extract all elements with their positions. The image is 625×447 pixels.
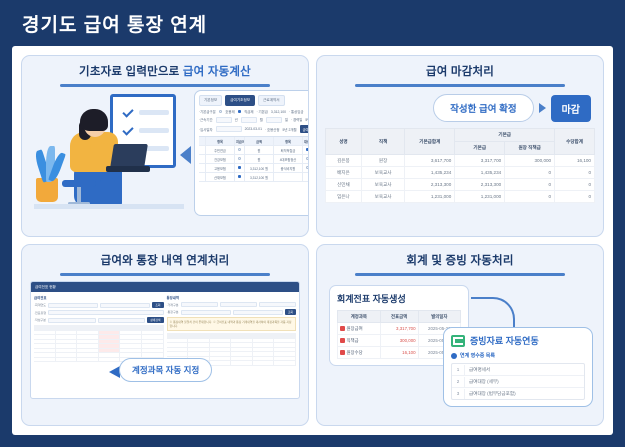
content-sheet: 기초자료 입력만으로 급여 자동계산 <box>12 46 613 435</box>
grid-cell-name: 건강보험 <box>206 155 235 164</box>
panel3-header: 급여와 통장 내역 연계처리 <box>30 252 300 276</box>
panel4-header: 회계 및 증빙 자동처리 <box>325 252 595 276</box>
label-account-type: ·통장구분 <box>167 310 179 314</box>
grid-cell-name: 산재보험 <box>206 173 235 182</box>
form-row-tenure: ·근속기간 년 월 일 · 경력일 5년 <box>199 117 309 123</box>
grid-cell-name2 <box>274 173 303 182</box>
input-account-subject[interactable] <box>233 310 283 315</box>
cell-name: 배지은 <box>326 167 362 179</box>
bank-linkage-screenshot: 급여전표 현황 급여전표 ·회계연도 조회 ·전표유형 ·작성구 <box>30 281 300 399</box>
cell-account-label: 원장수당 <box>347 350 363 355</box>
left-section-title: 급여전표 <box>34 295 164 300</box>
radio-seniority[interactable] <box>219 110 223 114</box>
cell-allowance: 0 <box>555 191 595 203</box>
grid-cell-name2: 4대보험정산 <box>274 155 303 164</box>
banner-title: 경기도 급여 통장 연계 <box>22 10 207 37</box>
value-career: 5년 <box>305 117 309 122</box>
input-tx-type[interactable] <box>181 302 218 307</box>
checkmark-icon <box>122 124 133 135</box>
input-date-to[interactable] <box>259 302 296 307</box>
stool-seat <box>62 180 96 187</box>
clipboard-line <box>139 110 169 115</box>
cell-role: 보육교사 <box>361 167 405 179</box>
input-tenure-month[interactable] <box>241 117 257 123</box>
grid-cell-name: 고용보험 <box>206 164 235 173</box>
cell-base-total: 1,435,234 <box>405 167 455 179</box>
list-item[interactable]: 2 급여대장 (세부) <box>452 376 584 388</box>
label-month: 월 <box>260 117 263 122</box>
grid-cell-check2[interactable] <box>303 155 309 164</box>
cell-base: 3,317,700 <box>455 155 505 167</box>
laptop-screen-icon <box>110 144 148 168</box>
tab-payroll-basis[interactable]: 급여기초정보 <box>225 95 255 106</box>
label-base-pay: · 기본급 <box>256 109 267 114</box>
screenshot-titlebar: 급여전표 현황 <box>31 282 299 292</box>
panel-payroll-closing: 급여 마감처리 작성한 급여 확정 마감 성명 직책 기본급합계 기본급 수당합… <box>316 55 604 237</box>
bullet-icon <box>451 353 457 359</box>
cell-director: 0 <box>505 167 555 179</box>
label-ordinary-wage: · 통상임금 <box>289 109 304 114</box>
voucher-header-row: 계정과목 전표금액 발의일자 <box>338 311 461 323</box>
label-hire-date: ·입사일자 <box>199 127 213 132</box>
grid-cell-amount: 원 <box>245 146 274 155</box>
evidence-subtitle: 연계 영수증 목록 <box>460 352 495 359</box>
closing-flow: 작성한 급여 확정 마감 <box>325 94 591 122</box>
grid-cell-check2[interactable] <box>303 164 309 173</box>
cell-allowance: 0 <box>555 167 595 179</box>
panel1-title-highlight: 급여 자동계산 <box>183 66 251 78</box>
cell-role: 보육교사 <box>361 179 405 191</box>
screenshot-left-column: 급여전표 ·회계연도 조회 ·전표유형 ·작성구분 <box>34 295 164 366</box>
payroll-basis-form-card: 기본정보 급여기초정보 근로계약서 ·기본급구분 호봉제 직급제 · 기본급 3… <box>194 90 309 216</box>
th-account: 계정과목 <box>338 311 381 323</box>
cell-base-total: 3,617,700 <box>405 155 455 167</box>
label-tx-type: ·거래구분 <box>167 303 179 307</box>
payroll-summary-table: 성명 직책 기본급합계 기본급 수당합계 기본급 원장 직책급 김은봉 원장 3… <box>325 128 595 203</box>
panel1-title-plain: 기초자료 입력만으로 <box>79 66 183 78</box>
panel4-body: 회계전표 자동생성 계정과목 전표금액 발의일자 원장급여 3,317,700 <box>325 281 595 409</box>
item-number: 3 <box>452 389 465 399</box>
checkmark-icon <box>122 106 133 117</box>
voucher-marker-icon <box>340 350 345 355</box>
cell-account-label: 직책급 <box>347 338 359 343</box>
grid-cell-name2: 퇴직적립금 <box>274 146 303 155</box>
payroll-table-body: 김은봉 원장 3,617,700 3,317,700 300,000 16,10… <box>326 155 595 203</box>
flow-arrow-icon <box>539 103 546 113</box>
filter-row-fiscal-year: ·회계연도 조회 <box>34 302 164 308</box>
table-row[interactable]: 배지은 보육교사 1,435,234 1,435,234 0 0 <box>326 167 595 179</box>
auto-account-assignment-callout: 계정과목 자동 지정 <box>119 358 212 382</box>
input-attribution-year[interactable] <box>100 303 150 308</box>
grid-cell-name2: 중식비지원 <box>274 164 303 173</box>
label-grade-calc: · 호봉산정 <box>265 127 280 132</box>
laptop-base-icon <box>106 166 150 172</box>
cell-base-total: 2,313,300 <box>405 179 455 191</box>
cell-role: 원장 <box>361 155 405 167</box>
close-payroll-button[interactable]: 마감 <box>551 95 591 122</box>
form-calc-button[interactable]: 급여기초정보 <box>300 125 309 133</box>
grid-cell-check[interactable] <box>235 155 245 164</box>
label-tenure: ·근속기간 <box>199 117 213 122</box>
grid-cell-check[interactable] <box>235 173 245 182</box>
panel4-title: 회계 및 증빙 자동처리 <box>325 252 595 268</box>
th-allowance-total: 수당합계 <box>555 129 595 155</box>
value-base-pay: 3,312,100 <box>271 110 286 114</box>
search-button-left[interactable]: 조회 <box>152 302 163 308</box>
input-tenure-year[interactable] <box>216 117 232 123</box>
mismatch-notice: ※ 통장내역 불일치 건이 존재합니다. ※ 급여전표 내역과 통장 거래내역을… <box>167 317 297 331</box>
th-name: 성명 <box>326 129 362 155</box>
list-item[interactable]: 1 급여명세서 <box>452 364 584 376</box>
evidence-card-header: 증빙자료 자동연동 <box>451 334 585 347</box>
evidence-subtitle-row: 연계 영수증 목록 <box>451 352 585 359</box>
label-grade: 직급제 <box>244 109 253 114</box>
cell-base-total: 1,231,000 <box>405 191 455 203</box>
desk-surface <box>34 204 184 209</box>
payroll-table-head: 성명 직책 기본급합계 기본급 수당합계 기본급 원장 직책급 <box>326 129 595 155</box>
flow-arrow-icon <box>180 146 191 164</box>
cell-amount: 3,317,700 <box>380 323 418 335</box>
cell-name: 임은나 <box>326 191 362 203</box>
value-grade-calc: 5년 2개월 <box>283 127 297 132</box>
panel2-header: 급여 마감처리 <box>325 63 595 87</box>
item-name: 급여대장 (세부) <box>465 376 503 387</box>
grid-header-amount: 금액 <box>245 137 274 146</box>
item-name: 급여명세서 <box>465 364 494 375</box>
grid-cell-check2 <box>303 173 309 182</box>
item-name: 급여대장 (법부담금포함) <box>465 388 520 399</box>
panel1-title: 기초자료 입력만으로 급여 자동계산 <box>30 63 300 79</box>
label-year: 년 <box>235 117 238 122</box>
grid-header-target: 대상여부 <box>303 137 309 146</box>
table-row[interactable]: 신민채 보육교사 2,313,300 2,313,300 0 0 <box>326 179 595 191</box>
cell-name: 신민채 <box>326 179 362 191</box>
cell-allowance: 16,100 <box>555 155 595 167</box>
th-date: 발의일자 <box>418 311 460 323</box>
input-write-type[interactable] <box>48 318 96 323</box>
th-director-pay: 원장 직책급 <box>505 142 555 155</box>
input-account-name[interactable] <box>98 318 146 323</box>
right-section-title: 통장내역 <box>167 295 297 300</box>
grid-cell-name: 주민연금 <box>206 146 235 155</box>
form-tabs: 기본정보 급여기초정보 근로계약서 <box>199 95 309 106</box>
cell-amount: 16,100 <box>380 347 418 359</box>
cell-director: 300,000 <box>505 155 555 167</box>
payroll-group-row: 성명 직책 기본급합계 기본급 수당합계 <box>326 129 595 142</box>
filter-row-account-type: ·통장구분 조회 <box>167 309 297 315</box>
grid-header-paid: 지급여부 <box>235 137 245 146</box>
person-at-laptop-illustration <box>34 92 184 214</box>
item-number: 2 <box>452 377 465 387</box>
panel3-underline <box>60 273 271 276</box>
th-base: 기본급 <box>455 142 505 155</box>
cell-base: 1,435,234 <box>455 167 505 179</box>
filter-row-write-type: ·작성구분 상세검색 <box>34 317 164 323</box>
person-hair <box>80 109 108 131</box>
cell-director: 0 <box>505 179 555 191</box>
panel1-underline <box>60 84 271 87</box>
confirm-payroll-pill[interactable]: 작성한 급여 확정 <box>433 94 533 122</box>
grid-rowlabel <box>199 155 206 164</box>
cell-account: 원장수당 <box>338 347 381 359</box>
grid-cell-check[interactable] <box>235 164 245 173</box>
panel-bank-linkage: 급여와 통장 내역 연계처리 급여전표 현황 급여전표 ·회계연도 조회 ·전표… <box>21 244 309 426</box>
tab-labor-contract[interactable]: 근로계약서 <box>258 95 285 106</box>
panel2-title: 급여 마감처리 <box>325 63 595 79</box>
panel2-underline <box>355 84 566 87</box>
detail-search-button[interactable]: 상세검색 <box>147 317 163 323</box>
cell-base: 1,231,000 <box>455 191 505 203</box>
tab-basic-info[interactable]: 기본정보 <box>199 95 222 106</box>
voucher-marker-icon <box>340 326 345 331</box>
table-row[interactable]: 임은나 보육교사 1,231,000 1,231,000 0 0 <box>326 191 595 203</box>
label-write-type: ·작성구분 <box>34 318 46 322</box>
label-base-type: ·기본급구분 <box>199 109 216 114</box>
th-role: 직책 <box>361 129 405 155</box>
grid-cell-amount: 3,312,100 원 <box>245 173 274 182</box>
screenshot-right-column: 통장내역 ·거래구분 ·통장구분 조회 ※ 통장내역 불일치 건이 존재합니다.… <box>167 295 297 366</box>
grid-cell-check2[interactable] <box>303 146 309 155</box>
input-voucher-type[interactable] <box>48 310 163 315</box>
insurance-grid: 항목 지급여부 금액 항목 대상여부 주민연금 원 퇴직적립금 건강보험 원 4… <box>199 136 309 182</box>
grid-header-item: 항목 <box>206 137 235 146</box>
th-base-total: 기본급합계 <box>405 129 455 155</box>
input-tenure-day[interactable] <box>266 117 282 123</box>
voucher-table-head: 계정과목 전표금액 발의일자 <box>338 311 461 323</box>
list-item[interactable]: 3 급여대장 (법부담금포함) <box>452 388 584 399</box>
grid-cell-check[interactable] <box>235 146 245 155</box>
th-group-base: 기본급 <box>455 129 555 142</box>
label-career-date: · 경력일 <box>291 117 302 122</box>
form-row-hire-date: ·입사일자 2023-03-01 · 호봉산정 5년 2개월 급여기초정보 <box>199 125 309 133</box>
panel-accounting-automation: 회계 및 증빙 자동처리 회계전표 자동생성 계정과목 전표금액 발의일자 <box>316 244 604 426</box>
cell-name: 김은봉 <box>326 155 362 167</box>
input-fiscal-year[interactable] <box>48 303 98 308</box>
label-seniority: 호봉제 <box>225 109 234 114</box>
panel4-underline <box>355 273 566 276</box>
input-account-type[interactable] <box>181 310 231 315</box>
filter-row-voucher-type: ·전표유형 <box>34 310 164 315</box>
table-row[interactable]: 원장급여 3,317,700 2025-05-22 <box>338 323 461 335</box>
left-result-grid[interactable] <box>34 325 164 362</box>
input-hire-date[interactable] <box>216 126 242 132</box>
item-number: 1 <box>452 365 465 375</box>
th-amount: 전표금액 <box>380 311 418 323</box>
cell-account: 직책급 <box>338 335 381 347</box>
clipboard-line <box>139 128 169 133</box>
input-date-from[interactable] <box>220 302 257 307</box>
voucher-card-title: 회계전표 자동생성 <box>337 292 461 305</box>
grid-corner <box>199 137 206 146</box>
panel-payroll-calculation: 기초자료 입력만으로 급여 자동계산 <box>21 55 309 237</box>
cell-director: 0 <box>505 191 555 203</box>
grid-rowlabel <box>199 146 206 155</box>
evidence-list: 1 급여명세서 2 급여대장 (세부) 3 급여대장 (법부담금포함) <box>451 363 585 400</box>
label-fiscal-year: ·회계연도 <box>34 303 46 307</box>
cell-account: 원장급여 <box>338 323 381 335</box>
cell-amount: 300,000 <box>380 335 418 347</box>
search-button-right[interactable]: 조회 <box>285 309 296 315</box>
panel3-title: 급여와 통장 내역 연계처리 <box>30 252 300 268</box>
panel1-body: 기본정보 급여기초정보 근로계약서 ·기본급구분 호봉제 직급제 · 기본급 3… <box>30 90 300 218</box>
cell-allowance: 0 <box>555 179 595 191</box>
value-hire-date: 2023-03-01 <box>245 127 262 131</box>
grid-cell-amount: 원 <box>245 155 274 164</box>
grid-rowlabel <box>199 173 206 182</box>
cell-base: 2,313,300 <box>455 179 505 191</box>
grid-header-item2: 항목 <box>274 137 303 146</box>
evidence-auto-link-card: 증빙자료 자동연동 연계 영수증 목록 1 급여명세서 2 급여대장 (세부) <box>443 327 593 407</box>
table-row[interactable]: 김은봉 원장 3,617,700 3,317,700 300,000 16,10… <box>326 155 595 167</box>
grid-cell-amount: 3,312,100 원 <box>245 164 274 173</box>
label-voucher-type: ·전표유형 <box>34 311 46 315</box>
evidence-card-title: 증빙자료 자동연동 <box>470 334 539 347</box>
banner-notch-shape <box>268 0 288 46</box>
panel1-header: 기초자료 입력만으로 급여 자동계산 <box>30 63 300 87</box>
voucher-marker-icon <box>340 338 345 343</box>
cell-account-label: 원장급여 <box>347 326 363 331</box>
title-banner: 경기도 급여 통장 연계 <box>0 0 268 46</box>
grid-rowlabel <box>199 164 206 173</box>
filter-row-tx-type: ·거래구분 <box>167 302 297 307</box>
cell-role: 보육교사 <box>361 191 405 203</box>
form-row-base-type: ·기본급구분 호봉제 직급제 · 기본급 3,312,100 · 통상임금 <box>199 109 309 114</box>
radio-grade[interactable] <box>238 110 242 114</box>
receipt-icon <box>451 335 465 347</box>
label-day: 일 <box>285 117 288 122</box>
